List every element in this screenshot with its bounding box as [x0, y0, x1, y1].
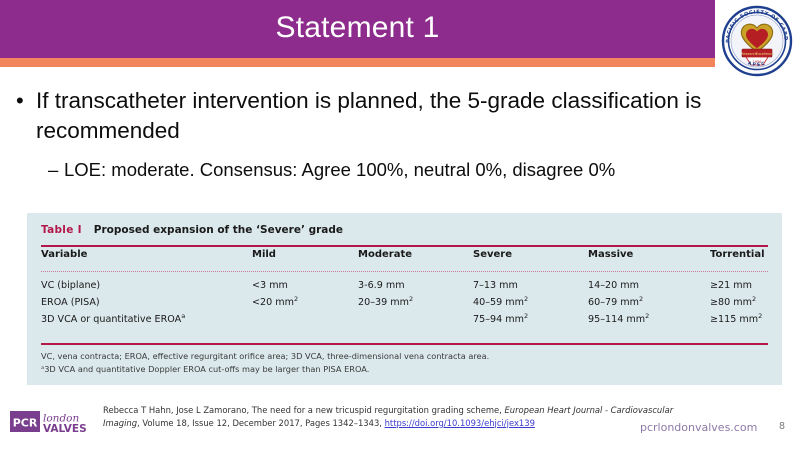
column-header-mild: Mild	[252, 249, 276, 260]
slide-number: 8	[779, 421, 785, 432]
bullet-level-1: • If transcatheter intervention is plann…	[16, 86, 784, 146]
cell-variable: EROA (PISA)	[41, 297, 100, 308]
cell-moderate: 3-6.9 mm	[358, 280, 405, 291]
table-row: EROA (PISA) <20 mm2 20–39 mm2 40–59 mm2 …	[41, 297, 768, 314]
citation-volume-pages: , Volume 18, Issue 12, December 2017, Pa…	[137, 418, 385, 428]
table-number-label: Table I	[41, 224, 82, 236]
citation-authors-title: Rebecca T Hahn, Jose L Zamorano, The nee…	[103, 405, 505, 415]
table-header-row: Variable Mild Moderate Severe Massive To…	[41, 249, 768, 270]
cell-mild: <20 mm2	[252, 297, 298, 308]
table-rule-top	[41, 245, 768, 247]
pcr-london-valves-logo: PCR london VALVES	[10, 409, 88, 435]
cell-massive: 14–20 mm	[588, 280, 639, 291]
cell-moderate: 20–39 mm2	[358, 297, 413, 308]
page-title: Statement 1	[0, 9, 715, 47]
column-header-variable: Variable	[41, 249, 87, 260]
cell-massive: 60–79 mm2	[588, 297, 643, 308]
column-header-severe: Severe	[473, 249, 512, 260]
table-row: VC (biplane) <3 mm 3-6.9 mm 7–13 mm 14–2…	[41, 280, 768, 297]
cell-severe: 7–13 mm	[473, 280, 518, 291]
svg-text:VALVES: VALVES	[43, 423, 87, 435]
svg-text:PCR: PCR	[13, 417, 38, 430]
column-header-torrential: Torrential	[710, 249, 765, 260]
table-footnote-a: ᵃ3D VCA and quantitative Doppler EROA cu…	[41, 363, 776, 376]
cell-mild: <3 mm	[252, 280, 288, 291]
cell-variable: VC (biplane)	[41, 280, 100, 291]
svg-text:Excellence: Excellence	[756, 52, 774, 56]
column-header-moderate: Moderate	[358, 249, 412, 260]
footer-website: pcrlondonvalves.com	[640, 421, 757, 434]
cell-severe: 75–94 mm2	[473, 314, 528, 325]
bullet-level-1-text: If transcatheter intervention is planned…	[36, 86, 784, 146]
cell-variable: 3D VCA or quantitative EROAa	[41, 314, 185, 325]
bullet-level-2-text: LOE: moderate. Consensus: Agree 100%, ne…	[64, 157, 768, 183]
table-caption-text: Proposed expansion of the ‘Severe’ grade	[94, 224, 343, 236]
cell-massive: 95–114 mm2	[588, 314, 649, 325]
table-footnote-abbreviations: VC, vena contracta; EROA, effective regu…	[41, 350, 776, 363]
table-grid: Variable Mild Moderate Severe Massive To…	[41, 249, 768, 331]
table-row: 3D VCA or quantitative EROAa 75–94 mm2 9…	[41, 314, 768, 331]
cell-severe: 40–59 mm2	[473, 297, 528, 308]
header-accent-stripe	[0, 58, 715, 67]
column-header-massive: Massive	[588, 249, 633, 260]
source-citation: Rebecca T Hahn, Jose L Zamorano, The nee…	[103, 404, 678, 429]
svg-text:Research: Research	[741, 52, 757, 56]
bullet-marker-icon: •	[16, 86, 36, 116]
cell-torrential: ≥21 mm	[710, 280, 752, 291]
table-panel: Table IProposed expansion of the ‘Severe…	[27, 213, 782, 385]
bullet-level-2: – LOE: moderate. Consensus: Agree 100%, …	[48, 157, 768, 183]
cell-torrential: ≥115 mm2	[710, 314, 762, 325]
citation-doi-link[interactable]: https://doi.org/10.1093/ehjci/jex139	[385, 418, 535, 428]
table-caption: Table IProposed expansion of the ‘Severe…	[41, 224, 343, 236]
asian-pacific-society-of-cardiology-logo-icon: Research Excellence 1956 ASIAN PACIFIC S…	[720, 4, 794, 78]
bullet-dash-marker-icon: –	[48, 157, 64, 183]
table-rule-bottom	[41, 343, 768, 345]
cell-torrential: ≥80 mm2	[710, 297, 756, 308]
table-footnotes: VC, vena contracta; EROA, effective regu…	[41, 350, 776, 376]
